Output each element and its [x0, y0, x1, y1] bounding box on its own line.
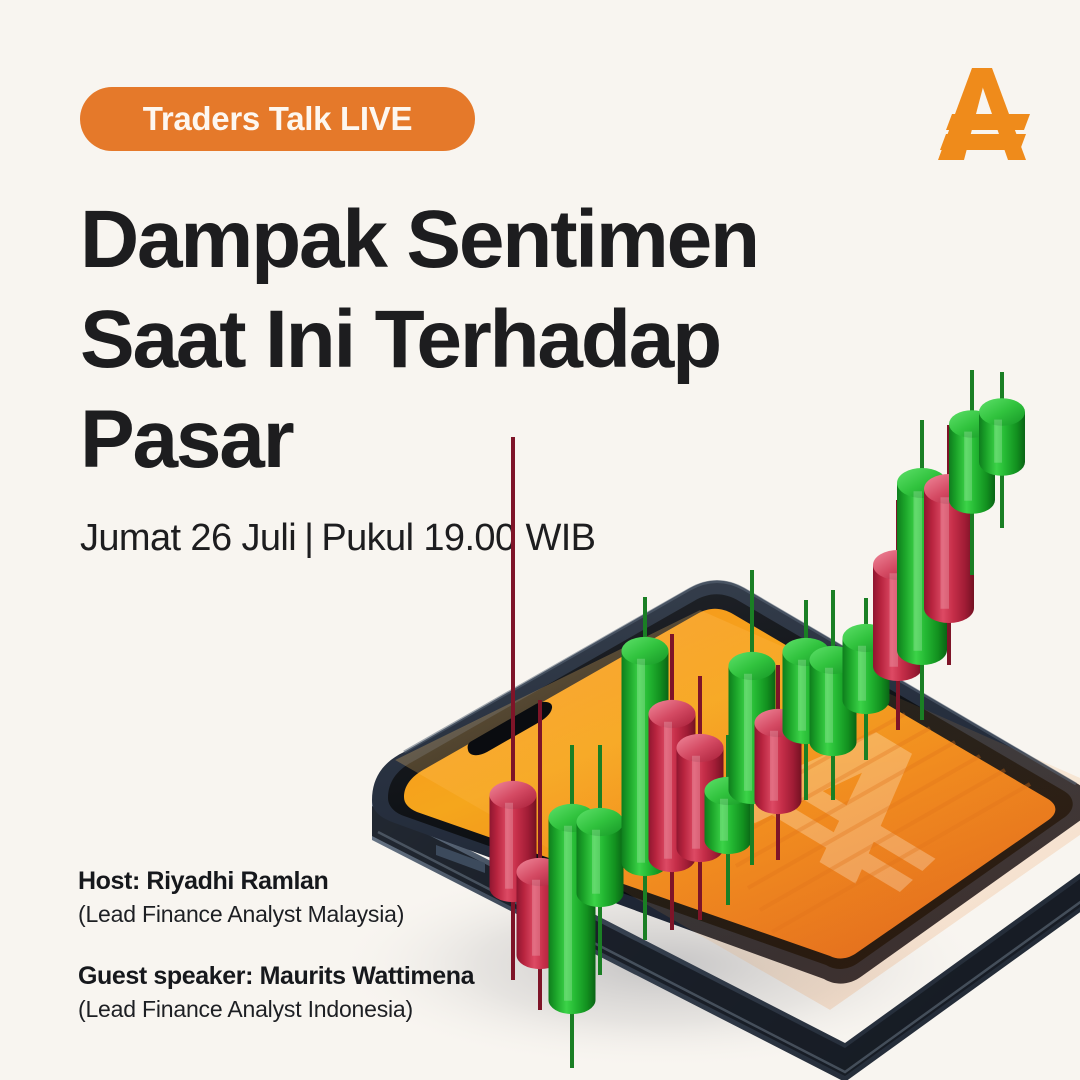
speaker-credits: Host: Riyadhi Ramlan (Lead Finance Analy… — [78, 865, 474, 1025]
credit-guest-speaker: Guest speaker: Maurits Wattimena (Lead F… — [78, 960, 474, 1025]
host-name: Host: Riyadhi Ramlan — [78, 865, 474, 898]
guest-speaker-role: (Lead Finance Analyst Indonesia) — [78, 993, 474, 1025]
credit-host: Host: Riyadhi Ramlan (Lead Finance Analy… — [78, 865, 474, 930]
guest-speaker-name: Guest speaker: Maurits Wattimena — [78, 960, 474, 993]
host-role: (Lead Finance Analyst Malaysia) — [78, 898, 474, 930]
promo-poster: Traders Talk LIVE Dampak Sentimen Saat I… — [0, 0, 1080, 1080]
